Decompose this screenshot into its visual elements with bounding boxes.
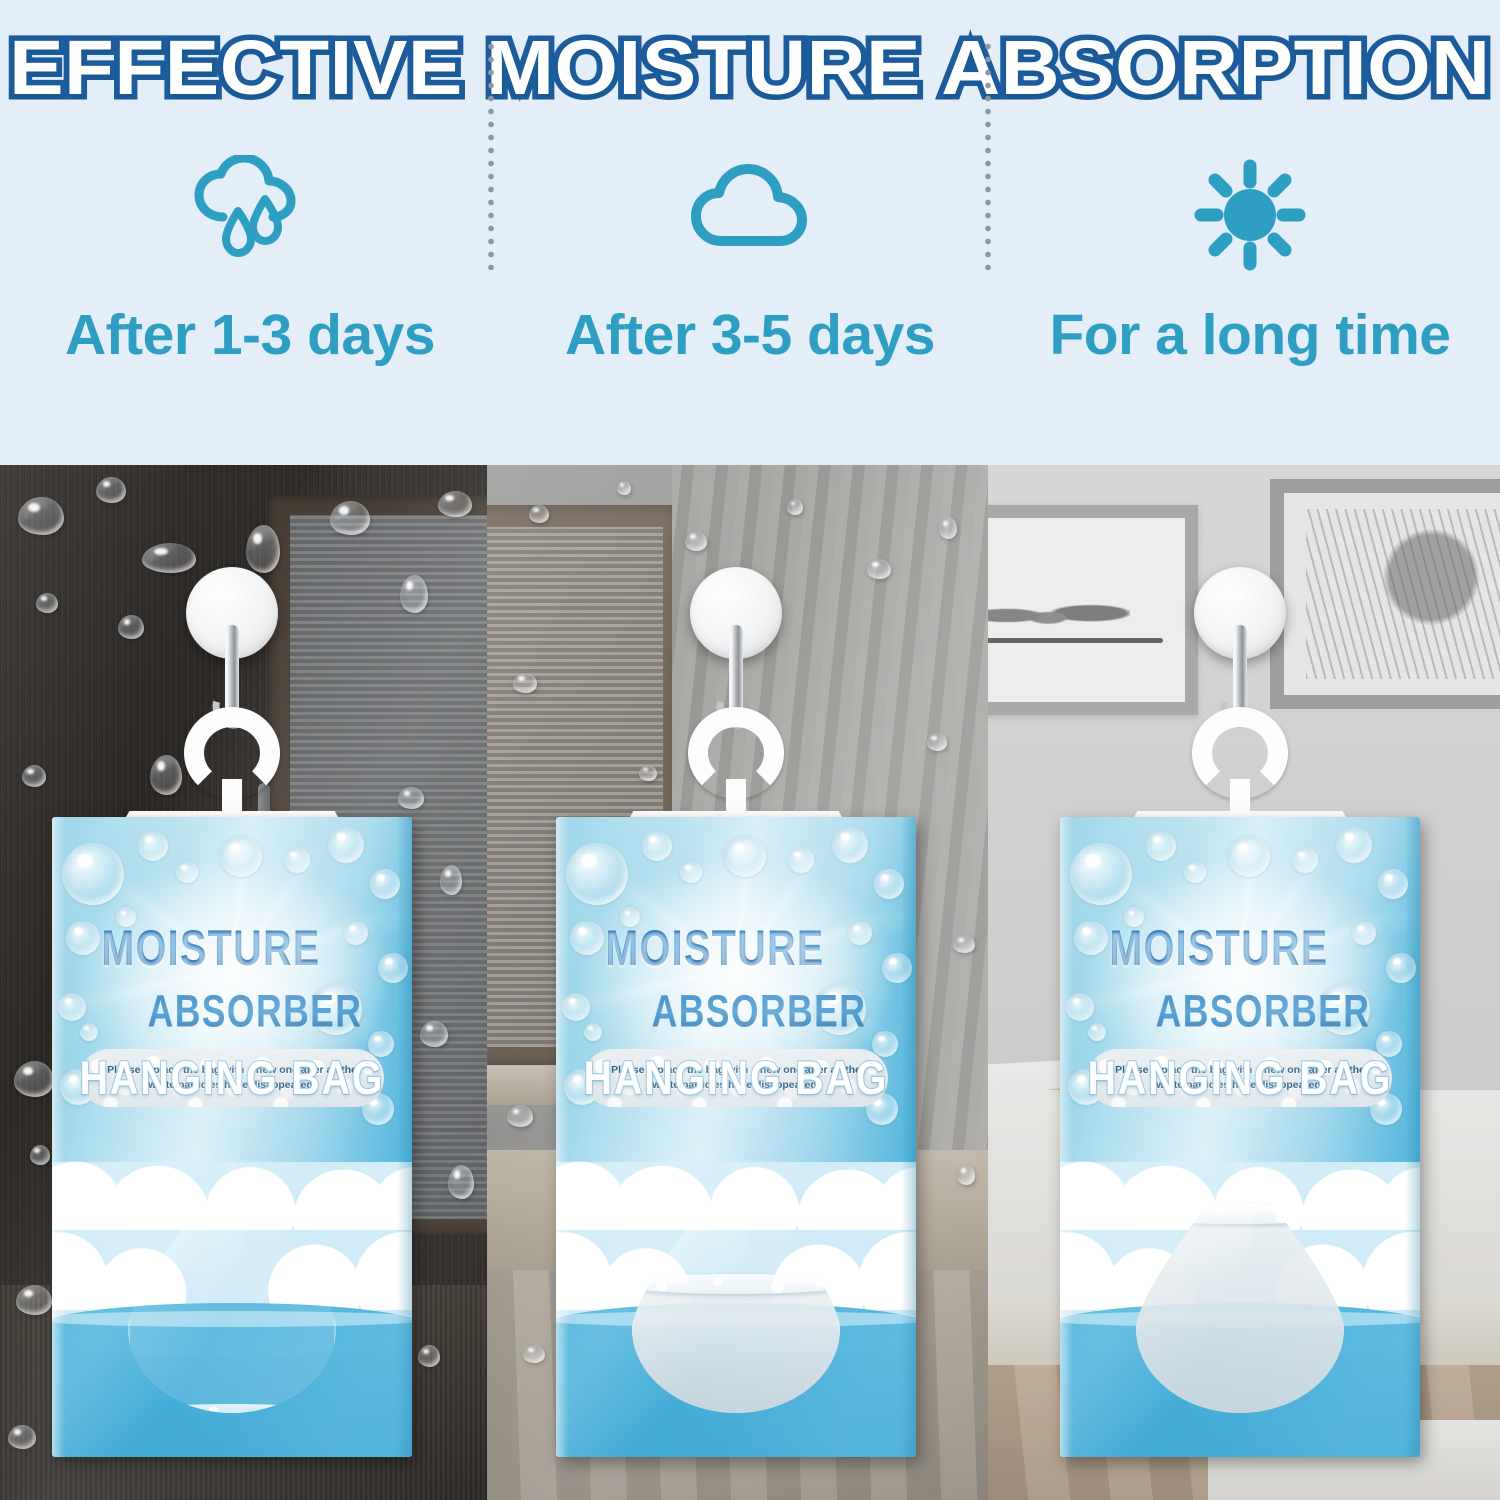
feature-item-1: After 1-3 days <box>0 150 500 430</box>
bag-title-absorber-3: ABSORBER <box>1112 986 1413 1037</box>
bag-edge-left-3 <box>1060 817 1073 1457</box>
tree-sketch <box>1306 509 1500 679</box>
bag-branding-1: MOISTURE ABSORBER HANGING BAG <box>52 925 412 1102</box>
bag-edge-left-1 <box>52 817 65 1457</box>
bag-title-moisture-3: MOISTURE <box>1060 920 1412 977</box>
bird-sketch <box>988 592 1130 640</box>
feature-label-3: For a long time <box>1049 302 1450 368</box>
feature-label-2: After 3-5 days <box>565 302 935 368</box>
header-band: EFFECTIVE MOISTURE ABSORPTION After 1-3 … <box>0 0 1500 465</box>
bag-branding-2: MOISTURE ABSORBER HANGING BAG <box>556 925 916 1102</box>
bag-title-hanging-bag-3: HANGING BAG <box>1064 1053 1417 1106</box>
feature-item-2: After 3-5 days <box>500 150 1000 430</box>
bag-title-hanging-bag-1: HANGING BAG <box>56 1053 409 1106</box>
feature-divider-1 <box>488 40 494 270</box>
feature-divider-2 <box>985 40 991 270</box>
bag-edge-right-1 <box>397 817 412 1457</box>
rain-cloud-icon <box>185 150 315 280</box>
product-scene: MOISTURE ABSORBER HANGING BAG Please rep… <box>0 465 1500 1500</box>
moisture-absorber-bag-2[interactable]: MOISTURE ABSORBER HANGING BAG Please rep… <box>556 817 916 1457</box>
page-title-wrapper: EFFECTIVE MOISTURE ABSORPTION <box>0 18 1500 118</box>
moisture-absorber-bag-3[interactable]: MOISTURE ABSORBER HANGING BAG Please rep… <box>1060 817 1420 1457</box>
branch-line <box>988 638 1163 643</box>
bag-branding-3: MOISTURE ABSORBER HANGING BAG <box>1060 925 1420 1102</box>
bag-edge-left-2 <box>556 817 569 1457</box>
framed-art-tree <box>1270 479 1500 709</box>
bag-title-moisture-1: MOISTURE <box>52 920 404 977</box>
page-title: EFFECTIVE MOISTURE ABSORPTION <box>9 24 1491 113</box>
feature-label-1: After 1-3 days <box>65 302 435 368</box>
bag-title-hanging-bag-2: HANGING BAG <box>560 1053 913 1106</box>
bag-title-absorber-2: ABSORBER <box>608 986 909 1037</box>
moisture-absorber-bag-1[interactable]: MOISTURE ABSORBER HANGING BAG Please rep… <box>52 817 412 1457</box>
bag-title-absorber-1: ABSORBER <box>104 986 405 1037</box>
sun-icon <box>1185 150 1315 280</box>
cloud-icon <box>685 150 815 280</box>
bag-edge-right-3 <box>1405 817 1420 1457</box>
framed-art-birds <box>988 505 1198 715</box>
feature-item-3: For a long time <box>1000 150 1500 430</box>
feature-row: After 1-3 days After 3-5 days <box>0 150 1500 430</box>
bag-title-moisture-2: MOISTURE <box>556 920 908 977</box>
bag-edge-right-2 <box>901 817 916 1457</box>
